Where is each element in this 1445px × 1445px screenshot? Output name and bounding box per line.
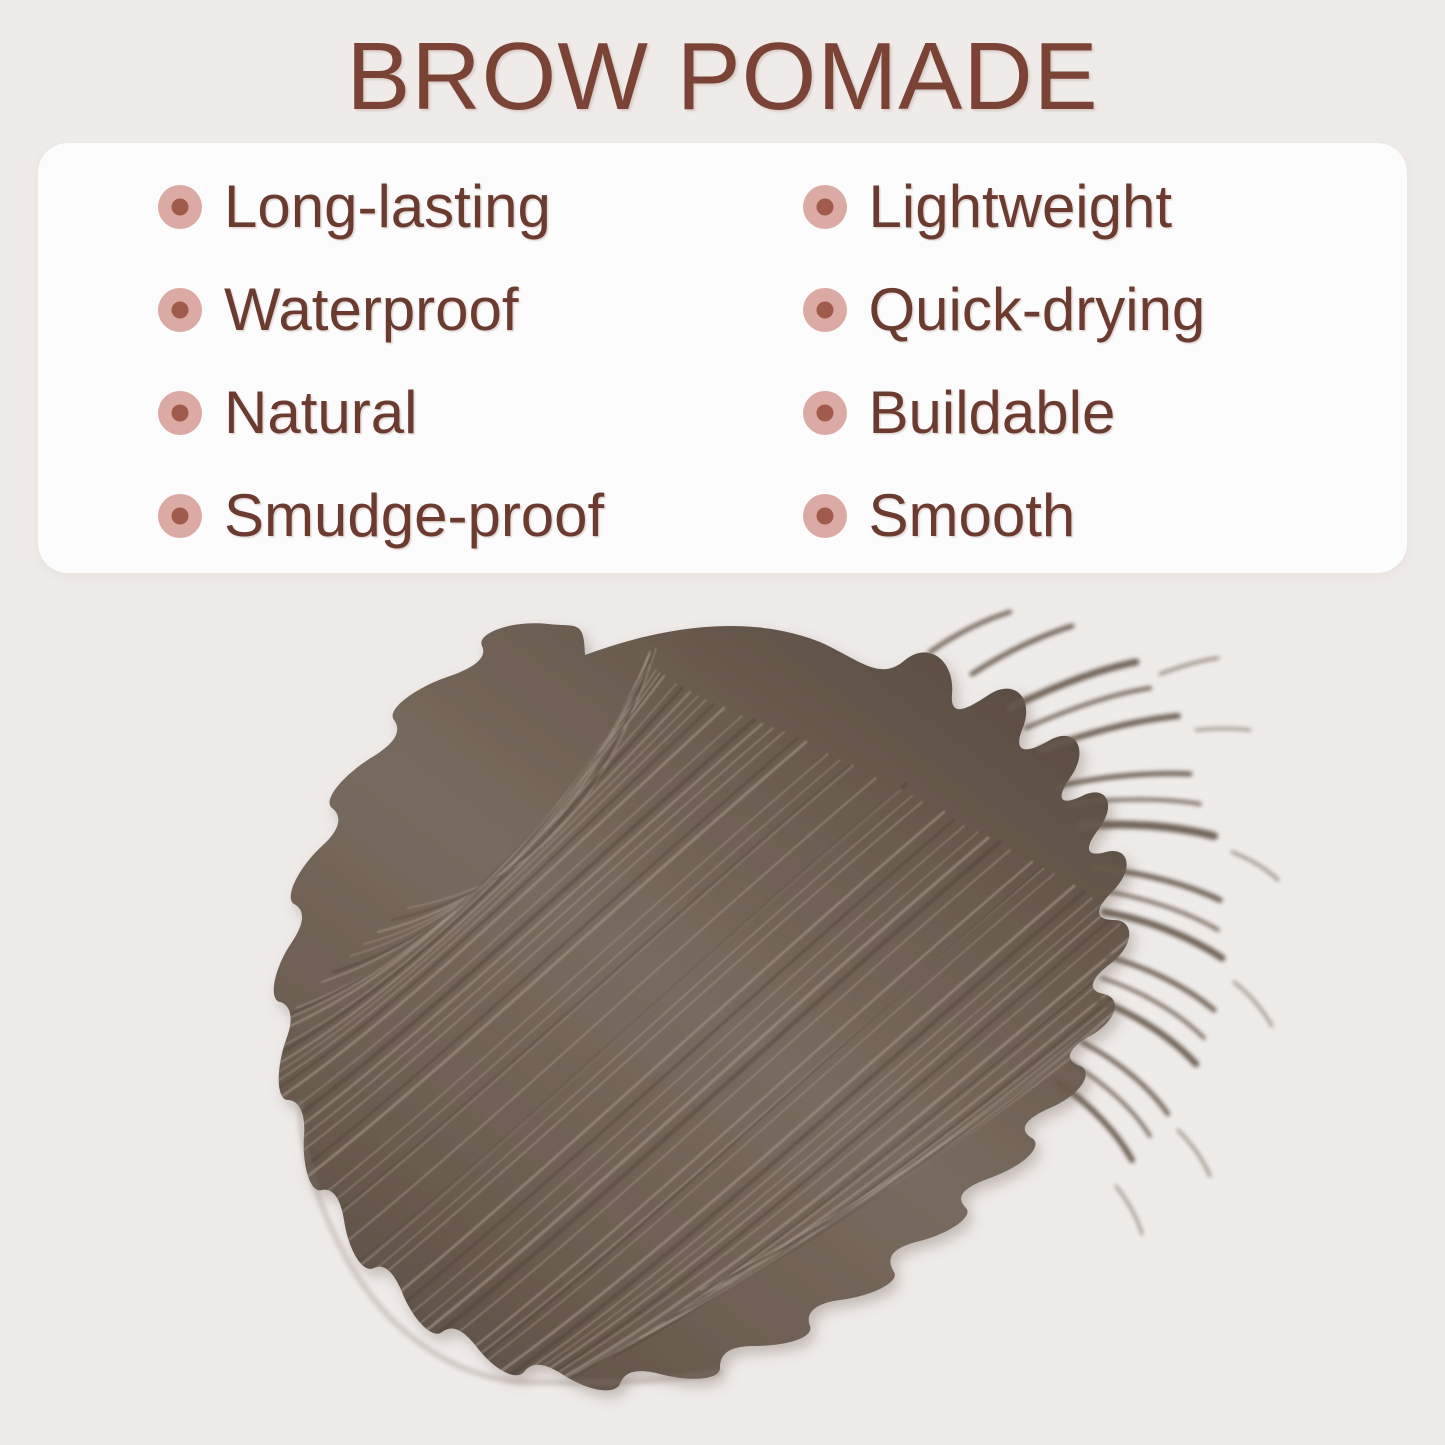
bullet-dot-icon — [803, 288, 847, 332]
feature-item-lightweight: Lightweight — [723, 155, 1408, 258]
bullet-dot-icon — [158, 494, 202, 538]
feature-card: Long-lasting Lightweight Waterproof Quic… — [38, 143, 1407, 573]
feature-item-smudge-proof: Smudge-proof — [38, 464, 723, 567]
feature-item-natural: Natural — [38, 361, 723, 464]
feature-label: Smooth — [869, 485, 1076, 547]
feature-list: Long-lasting Lightweight Waterproof Quic… — [38, 143, 1407, 573]
feature-label: Buildable — [869, 382, 1116, 444]
feature-label: Waterproof — [224, 279, 519, 341]
feature-label: Lightweight — [869, 176, 1173, 238]
feature-label: Quick-drying — [869, 279, 1206, 341]
feature-item-smooth: Smooth — [723, 464, 1408, 567]
feature-item-waterproof: Waterproof — [38, 258, 723, 361]
bullet-dot-icon — [158, 288, 202, 332]
swatch-silhouette — [274, 623, 1130, 1390]
feature-item-buildable: Buildable — [723, 361, 1408, 464]
bullet-dot-icon — [803, 391, 847, 435]
feature-label: Long-lasting — [224, 176, 551, 238]
feature-item-long-lasting: Long-lasting — [38, 155, 723, 258]
feature-item-quick-drying: Quick-drying — [723, 258, 1408, 361]
feature-label: Smudge-proof — [224, 485, 604, 547]
bullet-dot-icon — [803, 185, 847, 229]
feature-label: Natural — [224, 382, 417, 444]
product-swatch-area — [0, 590, 1445, 1445]
page-title: BROW POMADE — [0, 18, 1445, 136]
bullet-dot-icon — [158, 185, 202, 229]
bullet-dot-icon — [158, 391, 202, 435]
bullet-dot-icon — [803, 494, 847, 538]
brow-pomade-brush-swatch — [0, 590, 1445, 1445]
